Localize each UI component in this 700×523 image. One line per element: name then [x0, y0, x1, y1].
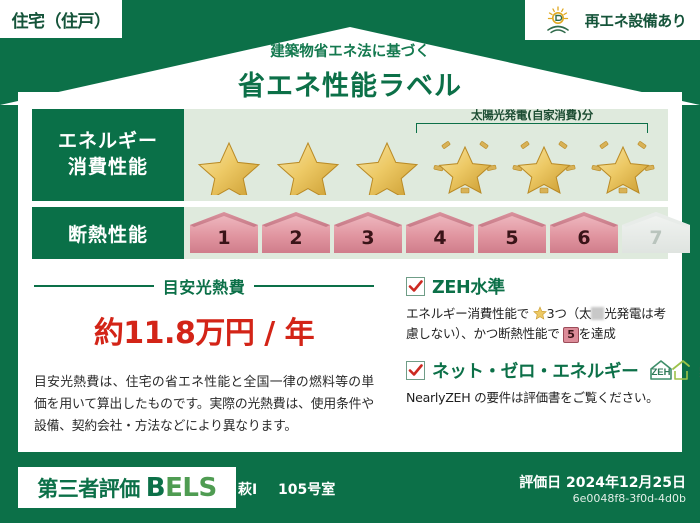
- claims-block: ZEH水準 エネルギー消費性能で 3つ（太光発電は考慮しない）、かつ断熱性能で …: [406, 274, 678, 421]
- bels-prefix-label: 第三者評価: [37, 473, 140, 503]
- title-subtitle: 建築物省エネ法に基づく: [0, 40, 700, 61]
- insulation-performance-row: 断熱性能: [32, 207, 668, 259]
- insulation-grade-7: 7: [620, 210, 692, 256]
- inline-star-icon: [533, 306, 547, 320]
- insulation-grade-5-number: 5: [476, 227, 548, 249]
- bels-logo-b: B: [146, 473, 165, 503]
- insulation-grade-4-number: 4: [404, 227, 476, 249]
- renewable-energy-badge: 再エネ設備あり: [525, 0, 700, 40]
- insulation-grade-5: 5: [476, 210, 548, 256]
- claim-zeh-standard: ZEH水準 エネルギー消費性能で 3つ（太光発電は考慮しない）、かつ断熱性能で …: [406, 274, 678, 345]
- star-6-solar: [588, 133, 658, 195]
- check-icon: [406, 277, 425, 296]
- insulation-grade-3: 3: [332, 210, 404, 256]
- claim-body-pre: エネルギー消費性能で: [406, 306, 529, 321]
- claim-net-zero-title: ネット・ゼロ・エネルギー: [432, 358, 638, 383]
- energy-label-line2: 消費性能: [68, 155, 148, 181]
- energy-performance-label: エネルギー 消費性能: [32, 109, 184, 201]
- claim-zeh-standard-body: エネルギー消費性能で 3つ（太光発電は考慮しない）、かつ断熱性能で 5を達成: [406, 304, 678, 345]
- solar-bracket-label: 太陽光発電(自家消費)分: [416, 107, 648, 123]
- energy-performance-row: エネルギー 消費性能 太陽光発電(自家消費)分: [32, 109, 668, 201]
- unit-name: 105号室: [278, 479, 335, 499]
- housing-type-tab: 住宅（住戸）: [0, 0, 122, 38]
- insulation-grade-2: 2: [260, 210, 332, 256]
- star-2: [273, 133, 343, 195]
- building-name: 萩Ⅰ: [238, 479, 257, 499]
- star-rating-group: [184, 129, 668, 199]
- bels-logo: BELS: [146, 473, 217, 503]
- insulation-grade-4: 4: [404, 210, 476, 256]
- bels-plate: 第三者評価 BELS: [18, 467, 236, 508]
- claim-net-zero-energy: ネット・ゼロ・エネルギー ZEH Nearly ZEH Ne: [406, 358, 678, 408]
- heading-rule-left: [34, 285, 154, 287]
- evaluation-id: 6e0048f8-3f0d-4d0b: [573, 492, 686, 505]
- claim-body-post: を達成: [579, 326, 616, 341]
- claim-zeh-standard-title: ZEH水準: [432, 274, 505, 299]
- insulation-performance-label: 断熱性能: [32, 207, 184, 259]
- insulation-grade-3-number: 3: [332, 227, 404, 249]
- check-icon: [406, 361, 425, 380]
- insulation-grade-group: 1 2 3: [188, 209, 664, 257]
- utility-cost-value: 約11.8万円 / 年: [34, 308, 374, 352]
- redacted-character: [591, 307, 604, 320]
- energy-performance-label: 住宅（住戸） 再エネ設備あり 建築物省エ: [0, 0, 700, 523]
- zeh-house-logo: ZEH: [647, 358, 691, 382]
- utility-cost-note: 目安光熱費は、住宅の省エネ性能と全国一律の燃料等の単価を用いて算出したものです。…: [34, 372, 374, 438]
- insulation-grade-1: 1: [188, 210, 260, 256]
- energy-label-line1: エネルギー: [58, 129, 158, 155]
- star-3: [352, 133, 422, 195]
- insulation-grade-6-number: 6: [548, 227, 620, 249]
- insulation-grade-6: 6: [548, 210, 620, 256]
- renewable-badge-label: 再エネ設備あり: [585, 10, 687, 31]
- claim-net-zero-body: NearlyZEH の要件は評価書をご覧ください。: [406, 388, 678, 408]
- insulation-grade-7-number: 7: [620, 227, 692, 249]
- footer-bar: 第三者評価 BELS 萩Ⅰ 105号室 評価日 2024年12月25日 6e00…: [0, 461, 700, 523]
- evaluation-date: 評価日 2024年12月25日: [519, 472, 686, 492]
- claim-net-zero-head: ネット・ゼロ・エネルギー ZEH Nearly ZEH: [406, 358, 678, 383]
- insulation-grade-1-number: 1: [188, 227, 260, 249]
- star-1: [194, 133, 264, 195]
- label-title-block: 建築物省エネ法に基づく 省エネ性能ラベル: [0, 40, 700, 103]
- star-5-solar: [509, 133, 579, 195]
- insulation-grade-2-number: 2: [260, 227, 332, 249]
- svg-text:ZEH: ZEH: [652, 367, 671, 378]
- page-title: 省エネ性能ラベル: [0, 64, 700, 103]
- solar-sun-icon: [545, 5, 579, 35]
- claim-zeh-standard-head: ZEH水準: [406, 274, 678, 299]
- utility-cost-heading-row: 目安光熱費: [34, 274, 374, 298]
- bels-logo-els: ELS: [165, 473, 217, 503]
- heading-rule-right: [254, 285, 374, 287]
- inline-grade-badge: 5: [563, 327, 578, 343]
- claim-body-mid: 3つ（太: [547, 306, 592, 321]
- energy-performance-body: 太陽光発電(自家消費)分: [184, 109, 668, 201]
- content-panel: エネルギー 消費性能 太陽光発電(自家消費)分: [18, 92, 682, 452]
- insulation-performance-body: 1 2 3: [184, 207, 668, 259]
- star-4-solar: [430, 133, 500, 195]
- utility-cost-block: 目安光熱費 約11.8万円 / 年 目安光熱費は、住宅の省エネ性能と全国一律の燃…: [34, 274, 374, 438]
- utility-cost-heading: 目安光熱費: [163, 274, 246, 298]
